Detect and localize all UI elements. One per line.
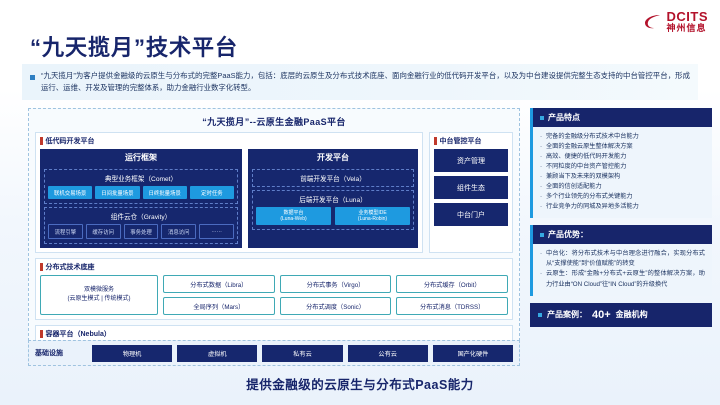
footer-caption: 提供金融级的云原生与分布式PaaS能力 xyxy=(0,374,720,393)
feature-item: 全面的信创适配能力 xyxy=(540,182,705,192)
control-item-asset[interactable]: 资产管理 xyxy=(434,149,508,172)
component-chip[interactable]: 缓存访问 xyxy=(86,224,121,239)
backend-dev-platform: 后端开发平台（Luna） 数据平台 (Luna-Web) 业务模型IDE (Lu… xyxy=(252,190,414,230)
component-chip[interactable]: 消息访问 xyxy=(161,224,196,239)
base-column: 分布式事务（Virgo） 分布式调度（Sonic） xyxy=(280,275,392,315)
infrastructure-row: 基础设施 物理机 虚拟机 私有云 公有云 国产化硬件 xyxy=(28,340,520,366)
container-platform-label: 容器平台（Nebula） xyxy=(40,329,508,339)
base-cell[interactable]: 分布式消息（TDRSS） xyxy=(396,297,508,315)
control-platform-panel: 中台管控平台 资产管理 组件生态 中台门户 xyxy=(429,132,513,253)
swirl-logo-icon xyxy=(643,12,663,32)
base-column: 分布式缓存（Orbit） 分布式消息（TDRSS） xyxy=(396,275,508,315)
runtime-chip[interactable]: 定时任务 xyxy=(190,186,234,199)
advantage-item: 中台化：将分布式技术与中台理念进行融合，实现分布式从“支撑使能”到“价值赋能”的… xyxy=(540,249,705,269)
component-chip[interactable]: 流程引擎 xyxy=(48,224,83,239)
frontend-dev-platform[interactable]: 前端开发平台（Vela） xyxy=(252,169,414,187)
component-cloud-title: 组件云仓（Gravity） xyxy=(48,211,234,221)
base-column: 分布式数据（Libra） 全局序列（Mars） xyxy=(163,275,275,315)
product-advantages-header: 产品优势： xyxy=(533,225,712,244)
square-bullet-icon xyxy=(540,233,544,237)
feature-item: 兼顾当下及未来的双模架构 xyxy=(540,172,705,182)
dual-mode-microservice-cell[interactable]: 双模微服务 (云原生模式 | 传统模式) xyxy=(40,275,158,315)
dev-platform-header: 开发平台 xyxy=(252,149,414,166)
diagram-title: “九天揽月”--云原生金融PaaS平台 xyxy=(35,113,513,132)
lowcode-platform-label: 低代码开发平台 xyxy=(40,136,418,146)
distributed-base-panel: 分布式技术底座 双模微服务 (云原生模式 | 传统模式) 分布式数据（Libra… xyxy=(35,258,513,320)
product-features-body: 完备的金融级分布式技术中台能力 全面的金融云原生整体解决方案 高效、便捷的低代码… xyxy=(533,127,712,218)
advantage-item: 云原生：形成“金融+分布式+云原生”的整体解决方案，助力行业由“ON Cloud… xyxy=(540,269,705,289)
square-bullet-icon xyxy=(540,116,544,120)
logo-text-en: DCITS xyxy=(667,10,709,23)
architecture-diagram: “九天揽月”--云原生金融PaaS平台 低代码开发平台 运行框架 典型业务框架（… xyxy=(28,108,520,366)
dual-mode-line2: (云原生模式 | 传统模式) xyxy=(68,295,131,304)
runtime-framework-block: 运行框架 典型业务框架（Comet） 联机交易场景 日间批量场景 日终批量场景 … xyxy=(40,149,242,248)
product-features-title: 产品特点 xyxy=(548,112,580,123)
backend-dev-chip-line1: 数据平台 xyxy=(283,210,303,216)
backend-dev-platform-label: 后端开发平台（Luna） xyxy=(299,197,366,204)
component-chip[interactable]: 事务处理 xyxy=(124,224,159,239)
base-cell[interactable]: 分布式调度（Sonic） xyxy=(280,297,392,315)
infrastructure-chip[interactable]: 公有云 xyxy=(348,345,428,362)
component-chip[interactable]: …… xyxy=(199,224,234,239)
intro-banner: “九天揽月”为客户提供金融级的云原生与分布式的完整PaaS能力，包括：底层的云原… xyxy=(22,64,698,100)
feature-item: 全面的金融云原生整体解决方案 xyxy=(540,142,705,152)
feature-item: 行业竞争力的同城及异地多活能力 xyxy=(540,202,705,212)
square-bullet-icon xyxy=(30,75,35,80)
backend-dev-chip[interactable]: 业务模型IDE (Luna-Robin) xyxy=(335,207,410,225)
base-cell[interactable]: 分布式事务（Virgo） xyxy=(280,275,392,293)
product-case-unit: 金融机构 xyxy=(616,309,648,320)
infrastructure-chip[interactable]: 虚拟机 xyxy=(177,345,257,362)
infrastructure-chip[interactable]: 物理机 xyxy=(92,345,172,362)
logo-text-cn: 神州信息 xyxy=(667,24,709,33)
product-case-bar: 产品案例： 40+ 金融机构 xyxy=(530,303,712,327)
product-advantages-card: 产品优势： 中台化：将分布式技术与中台理念进行融合，实现分布式从“支撑使能”到“… xyxy=(530,225,712,295)
component-cloud-group: 组件云仓（Gravity） 流程引擎 缓存访问 事务处理 消息访问 …… xyxy=(44,207,238,244)
infrastructure-chip[interactable]: 私有云 xyxy=(262,345,342,362)
base-cell[interactable]: 分布式数据（Libra） xyxy=(163,275,275,293)
backend-dev-chip-line1: 业务模型IDE xyxy=(358,210,386,216)
page-title: “九天揽月”技术平台 xyxy=(30,30,238,62)
side-column: 产品特点 完备的金融级分布式技术中台能力 全面的金融云原生整体解决方案 高效、便… xyxy=(530,108,712,327)
feature-item: 完备的金融级分布式技术中台能力 xyxy=(540,132,705,142)
runtime-chip[interactable]: 日间批量场景 xyxy=(95,186,139,199)
product-features-card: 产品特点 完备的金融级分布式技术中台能力 全面的金融云原生整体解决方案 高效、便… xyxy=(530,108,712,218)
backend-dev-chip-line2: (Luna-Web) xyxy=(280,216,306,222)
business-framework-title: 典型业务框架（Comet） xyxy=(48,173,234,183)
runtime-chip[interactable]: 日终批量场景 xyxy=(143,186,187,199)
distributed-base-label: 分布式技术底座 xyxy=(40,262,508,272)
dual-mode-line1: 双模微服务 xyxy=(84,286,114,295)
slide-root: DCITS 神州信息 “九天揽月”技术平台 “九天揽月”为客户提供金融级的云原生… xyxy=(0,0,720,405)
product-advantages-body: 中台化：将分布式技术与中台理念进行融合，实现分布式从“支撑使能”到“价值赋能”的… xyxy=(533,244,712,295)
control-platform-label: 中台管控平台 xyxy=(434,136,508,146)
control-item-portal[interactable]: 中台门户 xyxy=(434,203,508,226)
lowcode-platform-panel: 低代码开发平台 运行框架 典型业务框架（Comet） 联机交易场景 日间批量场景… xyxy=(35,132,423,253)
brand-logo: DCITS 神州信息 xyxy=(643,10,709,33)
product-features-header: 产品特点 xyxy=(533,108,712,127)
product-case-label: 产品案例： xyxy=(547,309,587,320)
product-case-number: 40+ xyxy=(592,309,611,321)
control-item-component[interactable]: 组件生态 xyxy=(434,176,508,199)
intro-text: “九天揽月”为客户提供金融级的云原生与分布式的完整PaaS能力，包括：底层的云原… xyxy=(41,70,690,94)
infrastructure-label: 基础设施 xyxy=(35,348,87,358)
feature-item: 多个行业领先的分布式关键能力 xyxy=(540,192,705,202)
business-framework-group: 典型业务框架（Comet） 联机交易场景 日间批量场景 日终批量场景 定时任务 xyxy=(44,169,238,204)
feature-item: 不同粒度的中台资产管控能力 xyxy=(540,162,705,172)
feature-item: 高效、便捷的低代码开发能力 xyxy=(540,152,705,162)
infrastructure-chip[interactable]: 国产化硬件 xyxy=(433,345,513,362)
backend-dev-chip[interactable]: 数据平台 (Luna-Web) xyxy=(256,207,331,225)
product-advantages-title: 产品优势： xyxy=(548,229,588,240)
runtime-chip[interactable]: 联机交易场景 xyxy=(48,186,92,199)
backend-dev-chip-line2: (Luna-Robin) xyxy=(358,216,387,222)
base-cell[interactable]: 全局序列（Mars） xyxy=(163,297,275,315)
base-cell[interactable]: 分布式缓存（Orbit） xyxy=(396,275,508,293)
dev-platform-block: 开发平台 前端开发平台（Vela） 后端开发平台（Luna） 数据平台 (Lun… xyxy=(248,149,418,248)
square-bullet-icon xyxy=(538,313,542,317)
runtime-framework-header: 运行框架 xyxy=(44,149,238,166)
